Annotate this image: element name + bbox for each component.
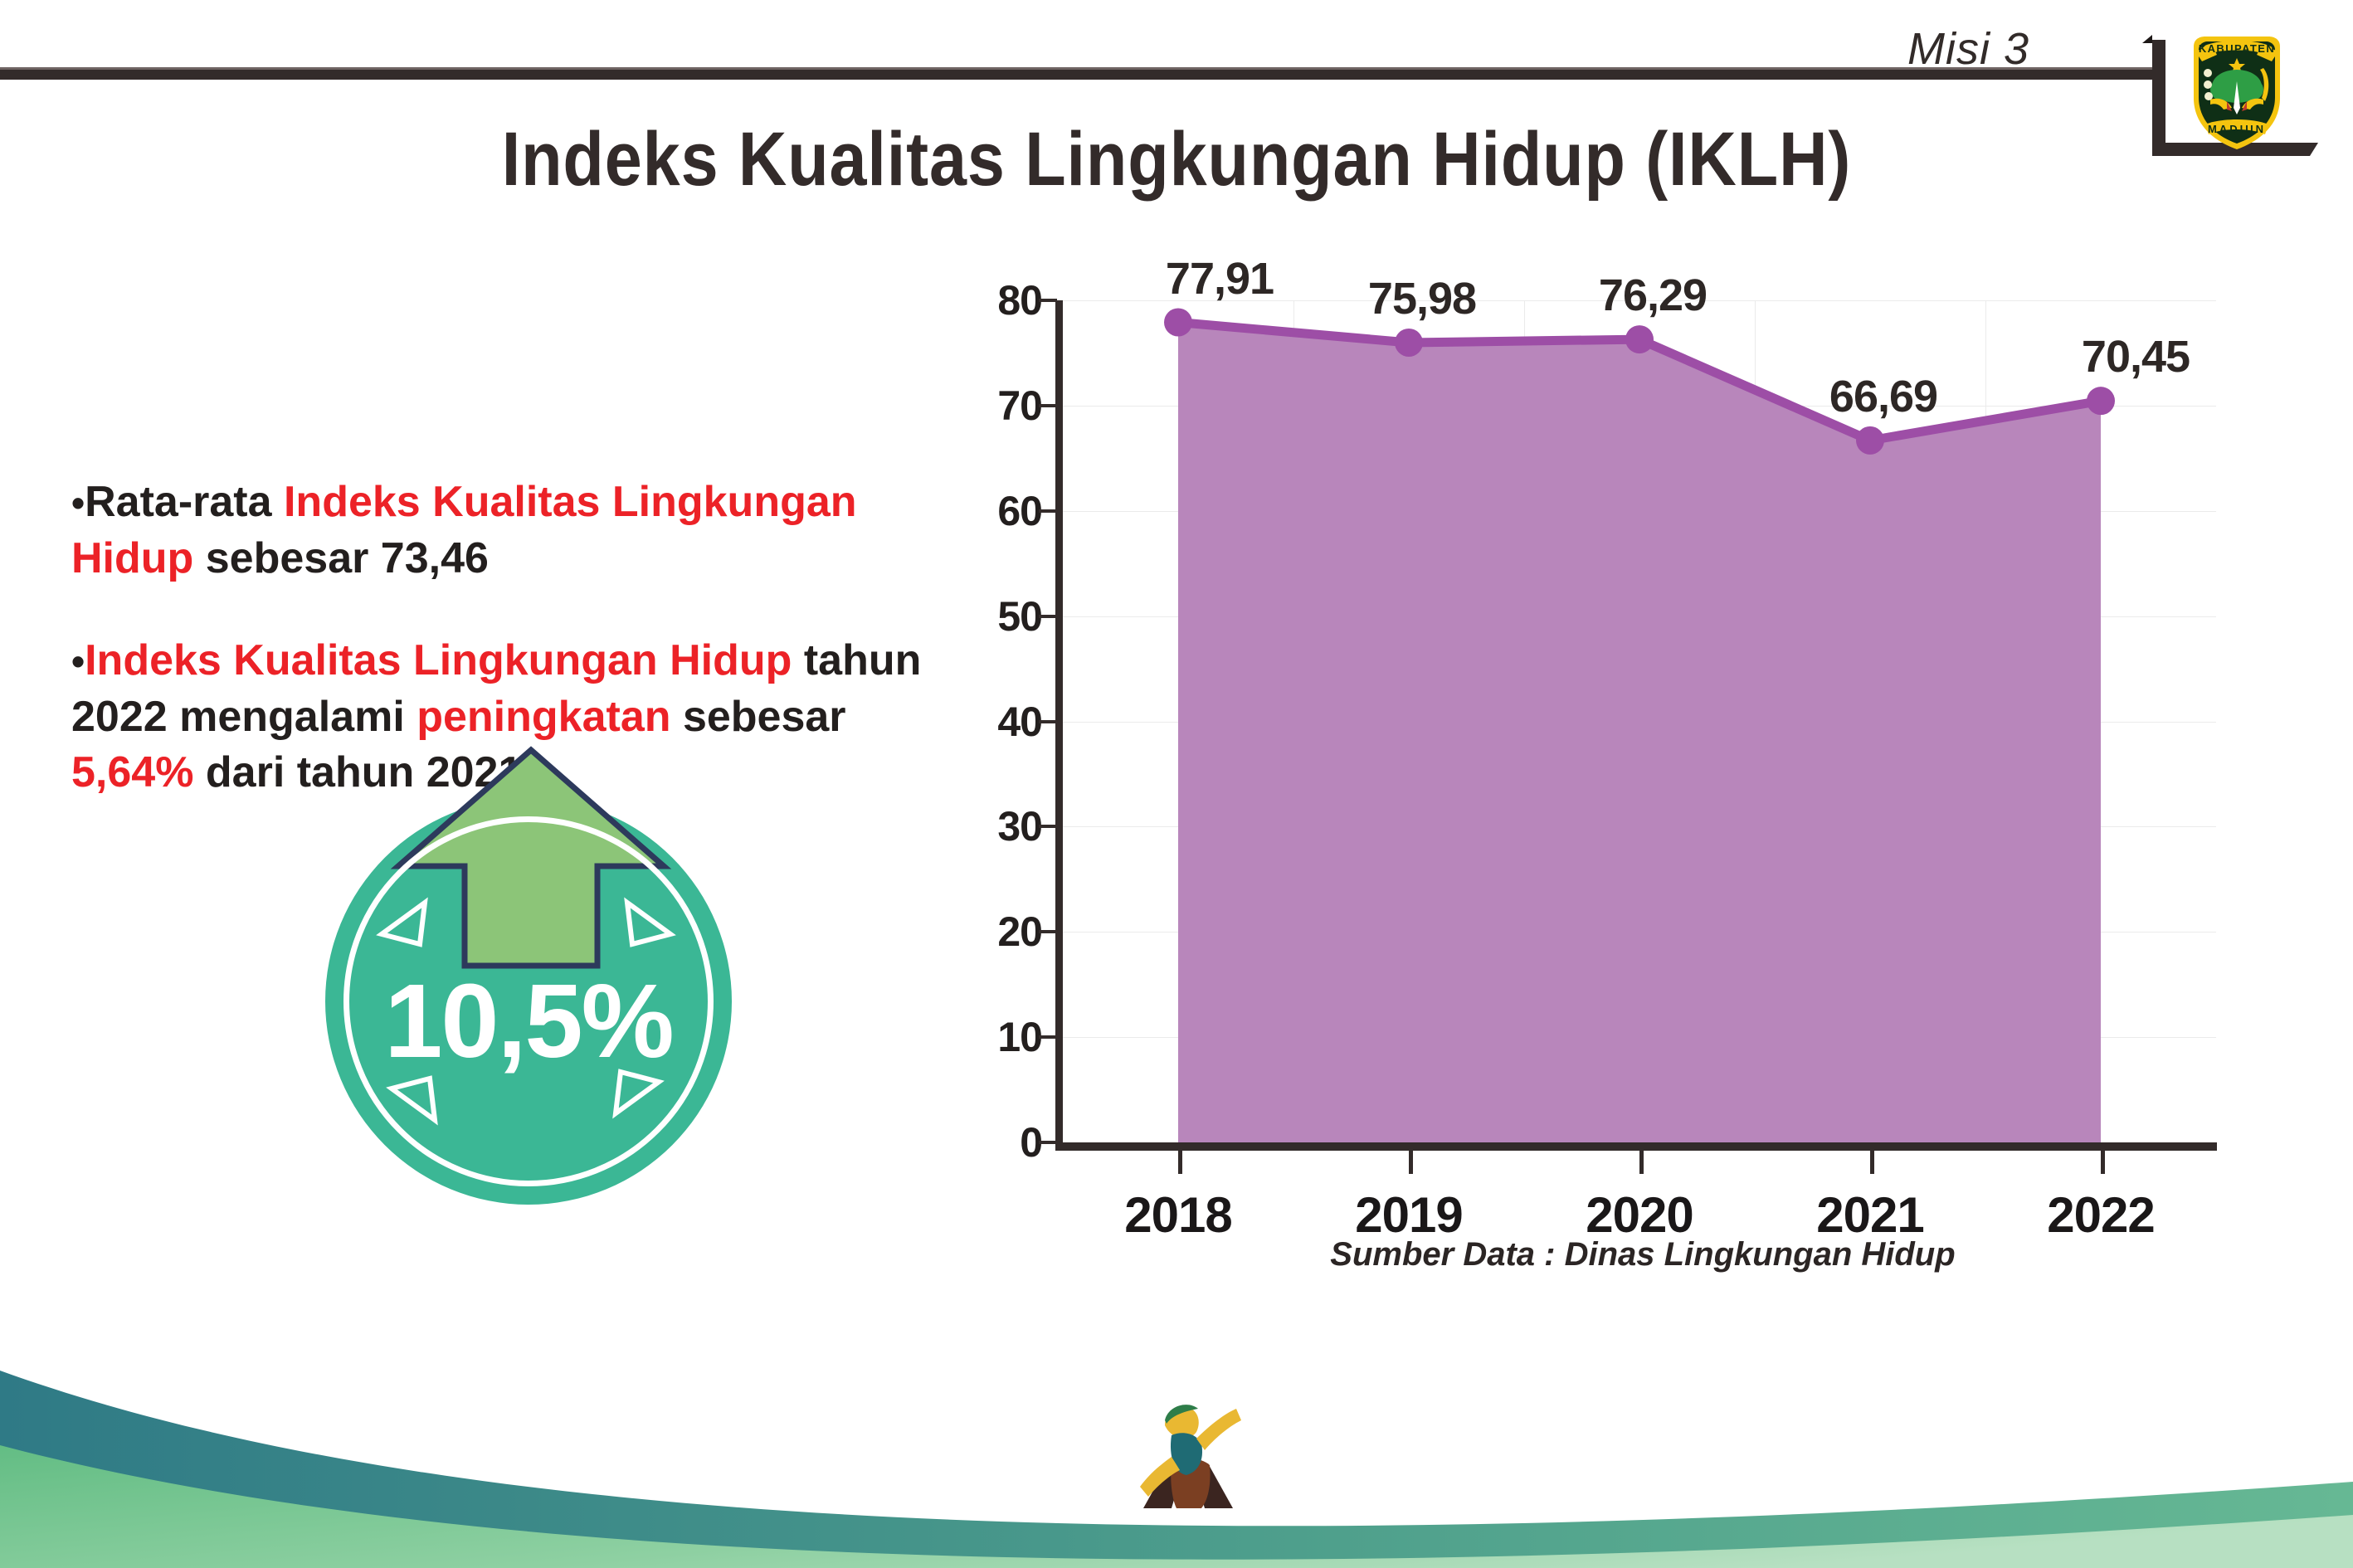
- bullet-text-span: Indeks Kualitas Lingkungan Hidup: [85, 636, 792, 684]
- badge-value: 10,5%: [325, 961, 732, 1081]
- data-point-marker: [1625, 325, 1654, 353]
- footer-caption: Media Infografis Data Statistik Sektoral…: [1218, 1440, 2353, 1492]
- y-axis-tick: [1039, 825, 1057, 828]
- x-axis-tick: [2101, 1151, 2105, 1174]
- data-point-marker: [1395, 329, 1423, 357]
- y-axis-tick: [1039, 1141, 1057, 1144]
- data-label: 75,98: [1368, 273, 1476, 324]
- data-label: 77,91: [1166, 253, 1274, 304]
- data-point-marker: [2087, 387, 2115, 415]
- y-axis-tick: [1039, 509, 1057, 513]
- data-label: 76,29: [1599, 270, 1707, 321]
- misi-label: Misi 3: [1907, 23, 2029, 75]
- y-axis-tick-label: 80: [997, 276, 1042, 324]
- y-axis-tick-label: 40: [997, 698, 1042, 746]
- x-axis-tick-label: 2022: [2047, 1186, 2154, 1244]
- y-axis-tick: [1039, 299, 1057, 302]
- page-title: Indeks Kualitas Lingkungan Hidup (IKLH): [141, 116, 2212, 203]
- bullet-text-span: sebesar 73,46: [193, 534, 489, 582]
- x-axis-tick-label: 2021: [1816, 1186, 1923, 1244]
- bullet-dot: •: [71, 481, 85, 524]
- x-axis-tick: [1409, 1151, 1413, 1174]
- bullet-text-span: sebesar: [671, 693, 846, 741]
- series-markers: [1063, 300, 2216, 1142]
- x-axis-tick-label: 2020: [1586, 1186, 1693, 1244]
- y-axis-tick: [1039, 930, 1057, 933]
- data-label: 66,69: [1829, 371, 1937, 422]
- badge-spark-icon-top-left: [373, 896, 435, 951]
- bullet-dot: •: [71, 640, 85, 683]
- x-axis-tick-label: 2019: [1355, 1186, 1462, 1244]
- data-point-marker: [1164, 309, 1192, 337]
- header-rule: [0, 70, 2157, 80]
- slide-canvas: Misi 3 KABUPATEN MADIUN Indeks Kualitas …: [0, 0, 2353, 1568]
- y-axis-tick: [1039, 720, 1057, 723]
- bullet-text-span: Rata-rata: [85, 478, 284, 526]
- increase-badge: 10,5%: [325, 798, 732, 1205]
- x-axis-tick: [1870, 1151, 1874, 1174]
- svg-text:KABUPATEN: KABUPATEN: [2199, 42, 2275, 55]
- y-axis-tick: [1039, 1035, 1057, 1039]
- list-item: •Rata-rata Indeks Kualitas Lingkungan Hi…: [71, 475, 967, 587]
- svg-text:MADIUN: MADIUN: [2208, 123, 2266, 135]
- y-axis-tick: [1039, 404, 1057, 407]
- x-axis-tick-label: 2018: [1124, 1186, 1231, 1244]
- y-axis-labels: 01020304050607080: [962, 282, 1042, 1153]
- y-axis-tick-label: 60: [997, 487, 1042, 535]
- y-axis-tick-label: 20: [997, 908, 1042, 956]
- bullet-text-span: 5,64%: [71, 748, 193, 796]
- y-axis-tick-label: 70: [997, 382, 1042, 430]
- chart-source: Sumber Data : Dinas Lingkungan Hidup: [1062, 1236, 2224, 1273]
- y-axis-tick-label: 50: [997, 592, 1042, 640]
- x-axis-line: [1055, 1142, 2217, 1151]
- bullet-text-span: peningkatan: [417, 693, 670, 741]
- x-axis-tick: [1639, 1151, 1644, 1174]
- y-axis-tick: [1039, 615, 1057, 618]
- iklh-area-chart: 01020304050607080 20182019202020212022 7…: [962, 282, 2257, 1294]
- y-axis-tick-label: 10: [997, 1013, 1042, 1061]
- badge-spark-icon-top-right: [617, 896, 679, 951]
- data-point-marker: [1856, 426, 1884, 455]
- y-axis-tick-label: 30: [997, 802, 1042, 850]
- y-axis-line: [1055, 300, 1063, 1147]
- data-label: 70,45: [2082, 331, 2190, 382]
- x-axis-tick: [1178, 1151, 1182, 1174]
